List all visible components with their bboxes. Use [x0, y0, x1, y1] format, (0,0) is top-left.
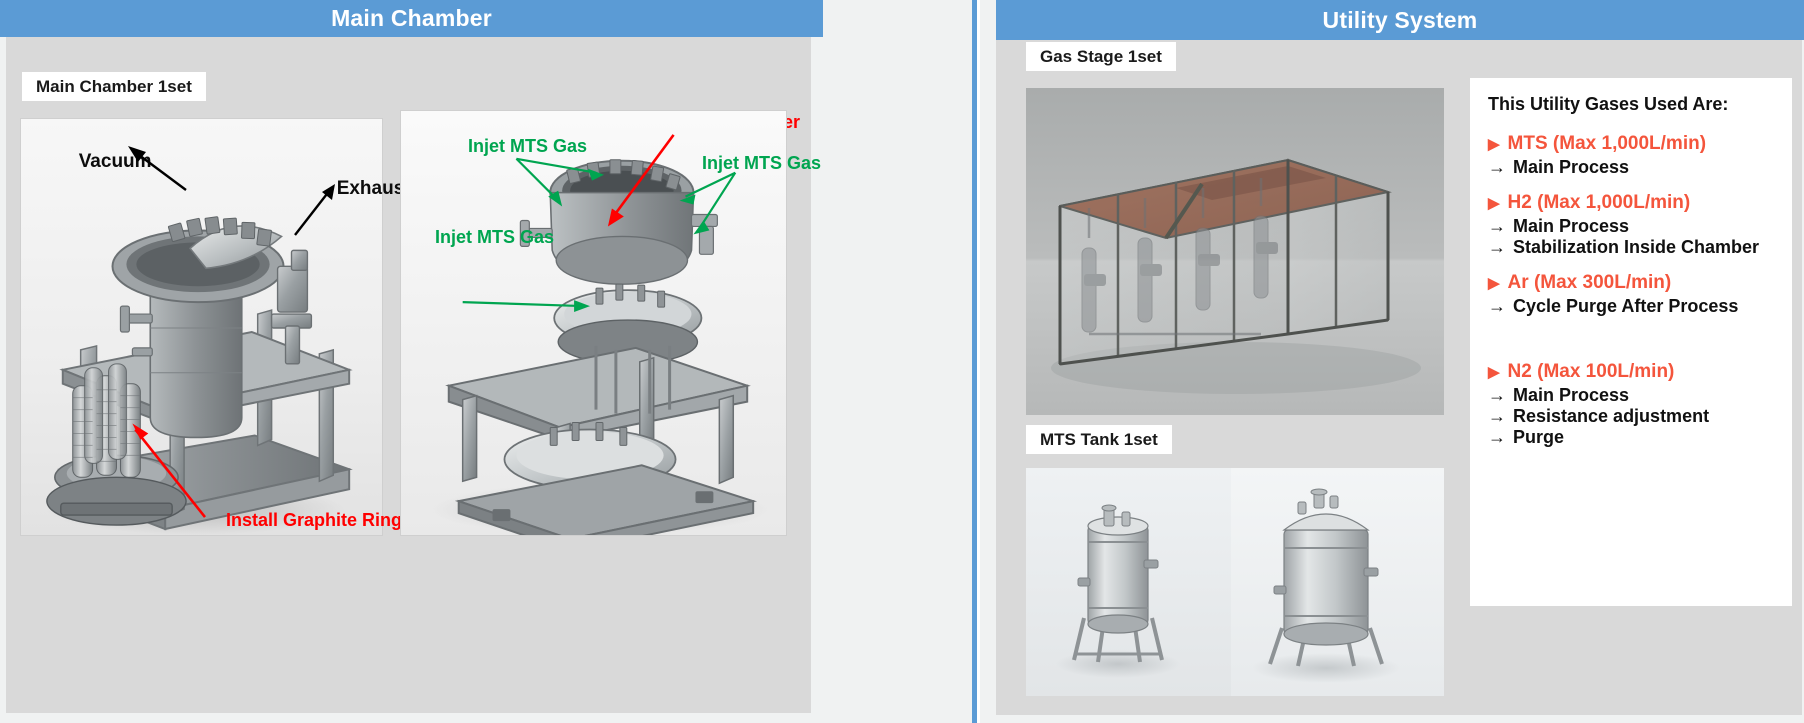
arrow-right-icon: → [1488, 385, 1506, 406]
annotation-injet-left-label: Injet MTS Gas [435, 227, 554, 247]
arrow-right-icon: → [1488, 296, 1506, 317]
gas-name: ▶MTS (Max 1,000L/min) [1488, 133, 1792, 155]
gas-use-label: Cycle Purge After Process [1513, 296, 1738, 317]
utility-system-header: Utility System [996, 0, 1804, 40]
gas-use-line: →Resistance adjustment [1488, 406, 1792, 427]
panel-divider [972, 0, 977, 723]
annotation-injet-top-label: Injet MTS Gas [468, 136, 587, 156]
caption-mts-tank: MTS Tank 1set [1026, 425, 1172, 454]
gas-use-label: Main Process [1513, 385, 1629, 406]
triangle-bullet-icon: ▶ [1488, 196, 1500, 211]
triangle-bullet-icon: ▶ [1488, 276, 1500, 291]
gas-name-label: MTS (Max 1,000L/min) [1508, 133, 1707, 155]
gas-use-label: Resistance adjustment [1513, 406, 1709, 427]
gas-name: ▶Ar (Max 300L/min) [1488, 272, 1792, 294]
triangle-bullet-icon: ▶ [1488, 365, 1500, 380]
render-mts-tank [1026, 468, 1444, 696]
annotation-vacuum-label: Vacuum [79, 151, 152, 172]
gas-name: ▶N2 (Max 100L/min) [1488, 361, 1792, 383]
gas-use-label: Purge [1513, 427, 1564, 448]
utility-gases-list: ▶MTS (Max 1,000L/min)→Main Process▶H2 (M… [1488, 133, 1792, 448]
gas-use-line: →Purge [1488, 427, 1792, 448]
gas-use-label: Stabilization Inside Chamber [1513, 237, 1759, 258]
annotation-injet-gas-right: Injet MTS Gas [672, 133, 821, 193]
gas-name-label: Ar (Max 300L/min) [1508, 272, 1672, 294]
gas-use-label: Main Process [1513, 216, 1629, 237]
main-chamber-title: Main Chamber [331, 5, 492, 32]
arrow-right-icon: → [1488, 237, 1506, 258]
utility-gases-title: This Utility Gases Used Are: [1488, 94, 1792, 115]
main-chamber-header: Main Chamber [0, 0, 823, 37]
caption-main-chamber-label: Main Chamber 1set [36, 77, 192, 97]
arrow-right-icon: → [1488, 406, 1506, 427]
panel-main-chamber: Main Chamber Main Chamber 1set Install G… [0, 0, 823, 723]
caption-gas-stage-label: Gas Stage 1set [1040, 47, 1162, 67]
arrow-right-icon: → [1488, 157, 1506, 178]
utility-gases-card: This Utility Gases Used Are: ▶MTS (Max 1… [1470, 78, 1792, 606]
gas-group: ▶H2 (Max 1,000L/min)→Main Process→Stabil… [1488, 192, 1792, 258]
caption-gas-stage: Gas Stage 1set [1026, 42, 1176, 71]
annotation-exhaust: Exhaust [305, 157, 411, 221]
annotation-injet-gas-top: Injet MTS Gas [438, 116, 587, 176]
arrow-right-icon: → [1488, 216, 1506, 237]
caption-main-chamber: Main Chamber 1set [22, 72, 206, 101]
annotation-injet-right-label: Injet MTS Gas [702, 153, 821, 173]
annotation-graphite-ring-label: Install Graphite Ring [226, 510, 402, 530]
utility-system-title: Utility System [1323, 7, 1478, 34]
slide-root: Main Chamber Main Chamber 1set Install G… [0, 0, 1804, 723]
annotation-vacuum: Vacuum [47, 130, 152, 194]
gas-stage-3d-art [1026, 88, 1444, 415]
gas-name: ▶H2 (Max 1,000L/min) [1488, 192, 1792, 214]
caption-mts-tank-label: MTS Tank 1set [1040, 430, 1158, 450]
gas-group: ▶Ar (Max 300L/min)→Cycle Purge After Pro… [1488, 272, 1792, 317]
gas-name-label: H2 (Max 1,000L/min) [1508, 192, 1691, 214]
gas-use-line: →Main Process [1488, 385, 1792, 406]
arrow-right-icon: → [1488, 427, 1506, 448]
annotation-install-graphite-ring: Install Graphite Ring [196, 490, 402, 550]
gas-name-label: N2 (Max 100L/min) [1508, 361, 1675, 383]
render-gas-stage [1026, 88, 1444, 415]
gas-group: ▶MTS (Max 1,000L/min)→Main Process [1488, 133, 1792, 178]
gas-use-label: Main Process [1513, 157, 1629, 178]
gas-use-line: →Cycle Purge After Process [1488, 296, 1792, 317]
gas-use-line: →Main Process [1488, 157, 1792, 178]
triangle-bullet-icon: ▶ [1488, 137, 1500, 152]
gas-use-line: →Stabilization Inside Chamber [1488, 237, 1792, 258]
panel-gutter [823, 0, 972, 723]
gas-group: ▶N2 (Max 100L/min)→Main Process→Resistan… [1488, 361, 1792, 448]
annotation-injet-gas-left: Injet MTS Gas [405, 207, 554, 267]
mts-tank-3d-art [1026, 468, 1444, 696]
gas-use-line: →Main Process [1488, 216, 1792, 237]
